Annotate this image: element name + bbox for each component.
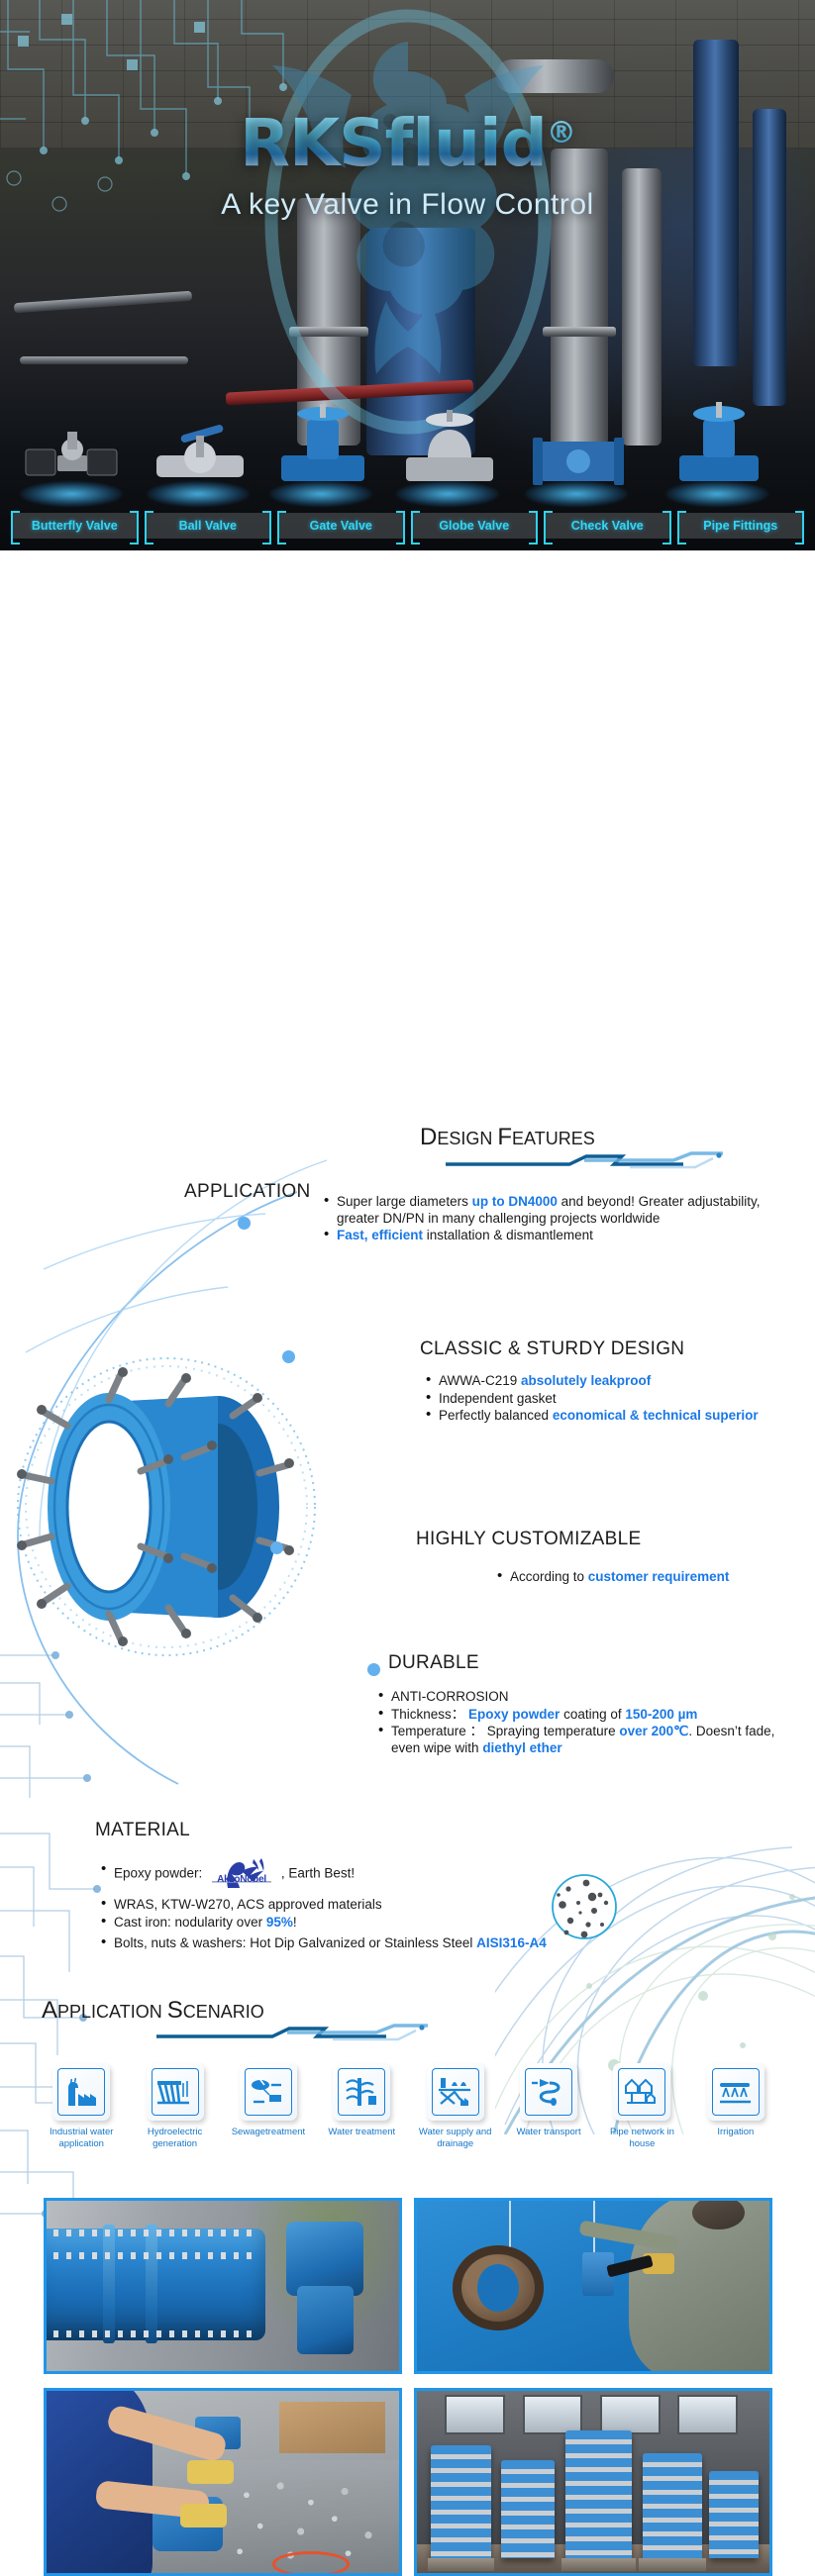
house-network-icon	[613, 2063, 670, 2121]
griffin-logo-watermark	[259, 4, 557, 440]
highlight-temperature-value: over 200℃	[619, 1724, 688, 1738]
category-pipe-fittings[interactable]: Pipe Fittings	[678, 513, 804, 539]
list-item: Independent gasket	[424, 1391, 780, 1408]
category-label: Butterfly Valve	[32, 519, 118, 533]
category-globe-valve[interactable]: Globe Valve	[412, 513, 538, 539]
registered-mark: ®	[547, 116, 575, 150]
bullet-text: WRAS, KTW-W270, ACS approved materials	[114, 1897, 382, 1912]
category-label: Pipe Fittings	[703, 519, 777, 533]
worker-assembling-bolts	[47, 2391, 399, 2573]
list-item: ANTI-CORROSION	[376, 1689, 782, 1706]
heading-highly-customizable: HIGHLY CUSTOMIZABLE	[416, 1529, 641, 1550]
scenario-water-supply-drainage[interactable]: Water supply and drainage	[414, 2063, 497, 2149]
list-item: Fast, efficient installation & dismantle…	[322, 1228, 787, 1244]
support-rail-2	[20, 356, 188, 364]
heading-durable: DURABLE	[388, 1652, 479, 1674]
highlight-fast-efficient: Fast, efficient	[337, 1228, 423, 1242]
connector-dot-customizable	[270, 1541, 283, 1554]
heading-classic-design: CLASSIC & STURDY DESIGN	[420, 1338, 684, 1360]
brand-name: RKSfluid®	[240, 111, 575, 176]
category-check-valve[interactable]: Check Valve	[545, 513, 670, 539]
scenario-label: Industrial water application	[40, 2127, 123, 2149]
epoxy-powder-suffix: , Earth Best!	[281, 1866, 355, 1881]
list-item: Super large diameters up to DN4000 and b…	[322, 1194, 787, 1227]
category-label: Ball Valve	[179, 519, 237, 533]
brand-tagline: A key Valve in Flow Control	[0, 188, 815, 222]
warehouse-stacked-dismantling-joints	[417, 2391, 769, 2573]
scenario-icon-row: Industrial water application Hydroelectr…	[40, 2063, 777, 2149]
brand-block: RKSfluid® A key Valve in Flow Control	[0, 111, 815, 222]
bullet-text: ANTI-CORROSION	[391, 1689, 509, 1704]
globe-valve-figure	[400, 402, 499, 493]
factory-icon	[52, 2063, 110, 2121]
list-item: According to customer requirement	[495, 1569, 792, 1586]
category-ball-valve[interactable]: Ball Valve	[146, 513, 271, 539]
category-label: Gate Valve	[310, 519, 372, 533]
scenario-label: Water transport	[507, 2127, 590, 2138]
list-item: Thickness： Epoxy powder coating of 150-2…	[376, 1707, 782, 1724]
connector-dot-classic-design	[282, 1350, 295, 1363]
category-label: Check Valve	[571, 519, 644, 533]
pipe-fittings-figure	[669, 394, 768, 493]
application-scenario-title: APPLICATION SCENARIO Application Scenari…	[42, 1997, 264, 2025]
installed-dismantling-joint-with-actuator	[47, 2201, 399, 2371]
highlight-customer-requirement: customer requirement	[588, 1569, 730, 1584]
scenario-hydroelectric[interactable]: Hydroelectric generation	[133, 2063, 216, 2149]
bullets-classic-design: AWWA-C219 absolutely leakproof Independe…	[424, 1373, 780, 1426]
pipeline-icon	[520, 2063, 577, 2121]
scenario-pipe-network-house[interactable]: Pipe network in house	[600, 2063, 683, 2149]
scenario-label: Water supply and drainage	[414, 2127, 497, 2149]
scenario-label: Irrigation	[694, 2127, 777, 2138]
scenario-water-treatment[interactable]: Water treatment	[320, 2063, 403, 2149]
highlight-leakproof: absolutely leakproof	[521, 1373, 651, 1388]
scenario-label: Hydroelectric generation	[133, 2127, 216, 2149]
heading-material: MATERIAL	[95, 1820, 190, 1841]
gallery-photo-1[interactable]	[44, 2198, 402, 2374]
brand-name-text: RKSfluid	[240, 105, 547, 181]
highlight-epoxy-powder: Epoxy powder	[464, 1707, 560, 1722]
list-item: Cast iron: nodularity over 95%!	[99, 1915, 713, 1932]
list-item: AWWA-C219 absolutely leakproof	[424, 1373, 780, 1390]
highlight-diethyl-ether: diethyl ether	[482, 1740, 561, 1755]
worker-spray-coating-flange	[417, 2201, 769, 2371]
gallery-photo-3[interactable]	[44, 2388, 402, 2576]
bullets-highly-customizable: According to customer requirement	[495, 1569, 792, 1587]
hero-banner: RKSfluid® A key Valve in Flow Control Bu…	[0, 0, 815, 550]
scenario-label: Sewagetreatment	[227, 2127, 310, 2138]
water-filter-icon	[333, 2063, 390, 2121]
scenario-water-transport[interactable]: Water transport	[507, 2063, 590, 2149]
akzonobel-wordmark: AkzoNobel	[206, 1867, 277, 1893]
connector-dot-durable	[367, 1663, 380, 1676]
check-valve-figure	[529, 420, 628, 493]
category-label: Globe Valve	[439, 519, 509, 533]
connector-dot-application	[238, 1217, 251, 1230]
highlight-dn4000: up to DN4000	[472, 1194, 558, 1209]
application-scenario-underline	[149, 2024, 436, 2045]
dam-icon	[147, 2063, 204, 2121]
list-item: Perfectly balanced economical & technica…	[424, 1408, 780, 1425]
scenario-irrigation[interactable]: Irrigation	[694, 2063, 777, 2149]
highlight-stainless-grade: AISI316-A4	[476, 1935, 547, 1950]
sewage-tank-icon	[240, 2063, 297, 2121]
gallery-grid	[44, 2198, 772, 2576]
water-supply-icon	[427, 2063, 484, 2121]
highlight-economical-technical: economical & technical superior	[553, 1408, 759, 1423]
heading-application: APPLICATION	[184, 1181, 311, 1203]
list-item: Temperature ： Spraying temperature over …	[376, 1724, 782, 1756]
bullet-text: Independent gasket	[439, 1391, 557, 1406]
scenario-sewage-treatment[interactable]: Sewagetreatment	[227, 2063, 310, 2149]
gate-valve-figure-blue	[273, 398, 372, 493]
scenario-industrial-water[interactable]: Industrial water application	[40, 2063, 123, 2149]
akzonobel-logo: AkzoNobel	[206, 1857, 277, 1891]
scenario-label: Water treatment	[320, 2127, 403, 2138]
category-butterfly-valve[interactable]: Butterfly Valve	[12, 513, 138, 539]
product-image-dismantling-joint	[10, 1342, 327, 1674]
design-features-underline	[436, 1150, 733, 1174]
bullets-durable: ANTI-CORROSION Thickness： Epoxy powder c…	[376, 1689, 782, 1757]
bullets-application: Super large diameters up to DN4000 and b…	[322, 1194, 787, 1245]
gallery-photo-4[interactable]	[414, 2388, 772, 2576]
scenario-label: Pipe network in house	[600, 2127, 683, 2149]
epoxy-powder-label: Epoxy powder:	[114, 1866, 202, 1881]
list-item-epoxy: Epoxy powder: AkzoNobel , Earth Best!	[99, 1857, 713, 1891]
category-button-row: Butterfly Valve Ball Valve Gate Valve Gl…	[0, 513, 815, 539]
butterfly-valve-figure	[24, 416, 123, 493]
highlight-nodularity: 95%	[266, 1915, 293, 1930]
category-gate-valve[interactable]: Gate Valve	[278, 513, 404, 539]
design-features-title: DESIGN FEATURES Design Features	[420, 1124, 595, 1151]
sprinkler-icon	[707, 2063, 764, 2121]
highlight-thickness-value: 150-200 µm	[625, 1707, 697, 1722]
gallery-photo-2[interactable]	[414, 2198, 772, 2374]
list-item: Bolts, nuts & washers: Hot Dip Galvanize…	[99, 1935, 713, 1952]
ball-valve-figure	[151, 412, 250, 493]
list-item: WRAS, KTW-W270, ACS approved materials	[99, 1897, 713, 1914]
bullets-material: Epoxy powder: AkzoNobel , Earth Best! WR…	[99, 1857, 713, 1953]
